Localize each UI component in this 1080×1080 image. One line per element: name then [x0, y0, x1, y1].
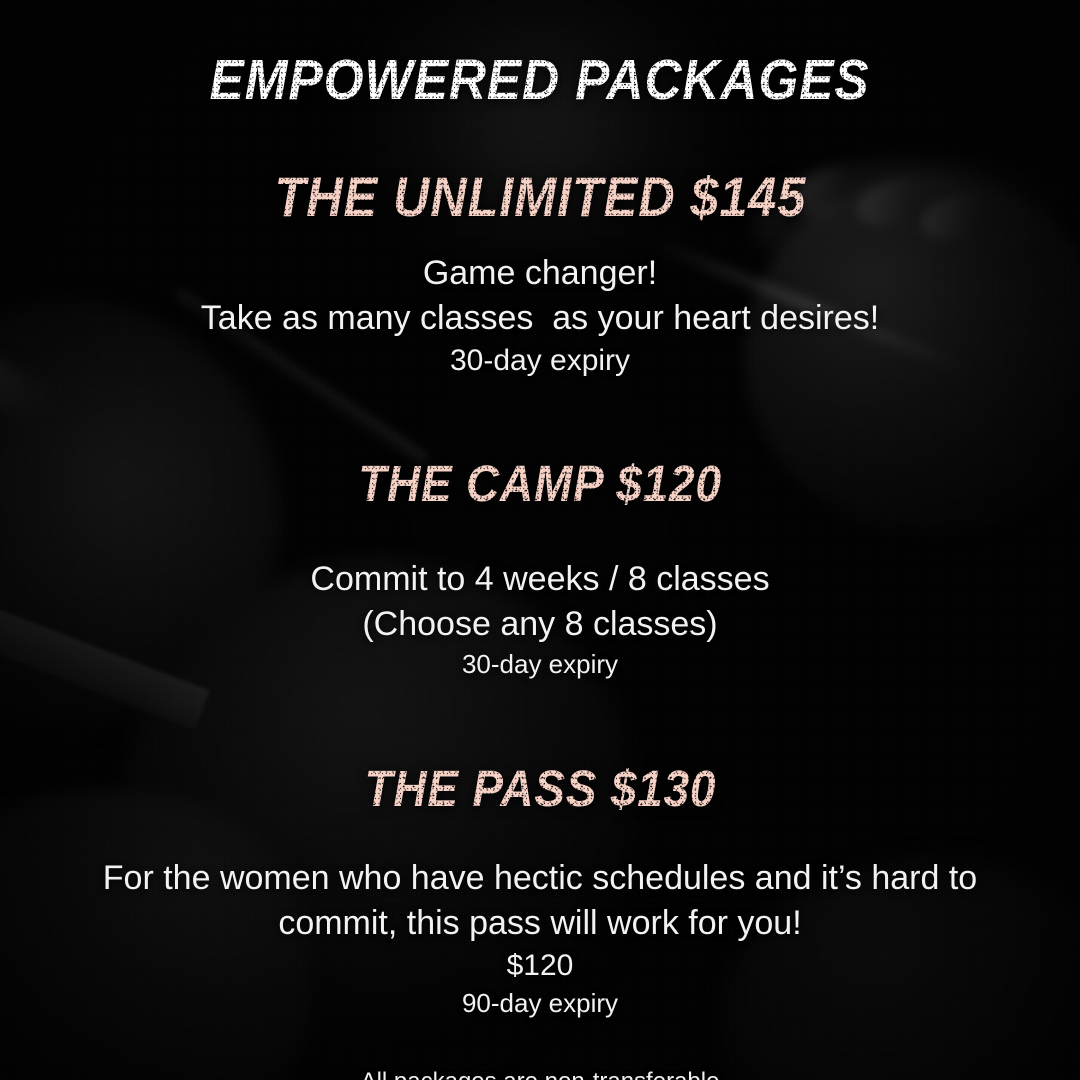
- package-the-pass: THE PASS $130 For the women who have hec…: [103, 763, 977, 1020]
- package-body-price: $120: [103, 946, 977, 986]
- package-body-the-camp: Commit to 4 weeks / 8 classes (Choose an…: [310, 557, 769, 681]
- poster-title: EMPOWERED PACKAGES: [210, 52, 870, 109]
- package-line: Take as many classes as your heart desir…: [201, 296, 879, 341]
- package-heading-the-unlimited: THE UNLIMITED $145: [274, 169, 806, 225]
- package-heading-the-pass: THE PASS $130: [364, 763, 716, 814]
- package-line: commit, this pass will work for you!: [103, 901, 977, 946]
- package-the-camp: THE CAMP $120 Commit to 4 weeks / 8 clas…: [310, 458, 769, 681]
- package-expiry: 30-day expiry: [310, 647, 769, 681]
- package-expiry: 90-day expiry: [103, 986, 977, 1020]
- package-expiry: 30-day expiry: [201, 341, 879, 381]
- footer-note: All packages are non-transferable: [361, 1068, 720, 1080]
- package-line: (Choose any 8 classes): [310, 602, 769, 647]
- package-body-the-pass: For the women who have hectic schedules …: [103, 856, 977, 1020]
- package-line: Game changer!: [201, 251, 879, 296]
- poster-content: EMPOWERED PACKAGES THE UNLIMITED $145 Ga…: [0, 0, 1080, 1080]
- package-the-unlimited: THE UNLIMITED $145 Game changer! Take as…: [201, 169, 879, 380]
- package-line: For the women who have hectic schedules …: [103, 856, 977, 901]
- package-line: Commit to 4 weeks / 8 classes: [310, 557, 769, 602]
- package-body-the-unlimited: Game changer! Take as many classes as yo…: [201, 251, 879, 380]
- package-heading-the-camp: THE CAMP $120: [358, 458, 722, 509]
- packages-poster: EMPOWERED PACKAGES THE UNLIMITED $145 Ga…: [0, 0, 1080, 1080]
